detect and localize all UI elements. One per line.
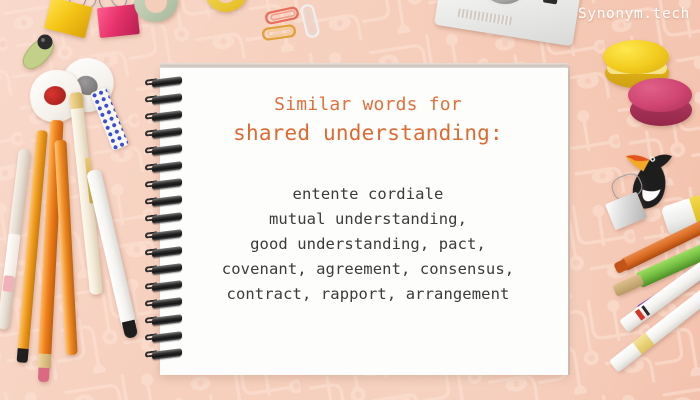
spiral-coil (152, 333, 182, 341)
spiral-coil (152, 112, 182, 120)
spiral-coil (152, 265, 182, 273)
spiral-coil (152, 248, 182, 256)
macaron-pink-top (628, 78, 692, 112)
spiral-coil (152, 95, 182, 103)
brand-logo[interactable]: Synonym.tech (578, 6, 690, 22)
spiral-coil (152, 163, 182, 171)
washi-tape-yellow (205, 0, 247, 12)
binder-clip-pink-body (97, 4, 140, 38)
headline-line-1: Similar words for (182, 92, 554, 118)
synonym-list: entente cordiale mutual understanding, g… (182, 182, 554, 307)
spiral-coil (152, 214, 182, 222)
spiral-coil (152, 316, 182, 324)
spiral-coil (152, 299, 182, 307)
synonym-list-line: mutual understanding, (182, 207, 554, 232)
spiral-coil (152, 197, 182, 205)
macaron-pink (628, 78, 694, 130)
macaron-yellow-top (603, 40, 669, 74)
synonym-list-line: entente cordiale (182, 182, 554, 207)
page-content: Similar words for shared understanding: … (182, 92, 554, 307)
spiral-coil (152, 129, 182, 137)
spiral-coil (152, 350, 182, 358)
spiral-coil (152, 78, 182, 86)
synonym-list-line: covenant, agreement, consensus, (182, 257, 554, 282)
synonym-list-line: good understanding, pact, (182, 232, 554, 257)
screenshot-canvas: Similar words for shared understanding: … (0, 0, 700, 400)
spiral-coil (152, 180, 182, 188)
eraser-bird-green (18, 33, 58, 73)
spiral-coil (152, 146, 182, 154)
synonym-list-line: contract, rapport, arrangement (182, 282, 554, 307)
headline-line-2: shared understanding: (182, 118, 554, 148)
spiral-coil (152, 282, 182, 290)
spiral-coil (152, 231, 182, 239)
